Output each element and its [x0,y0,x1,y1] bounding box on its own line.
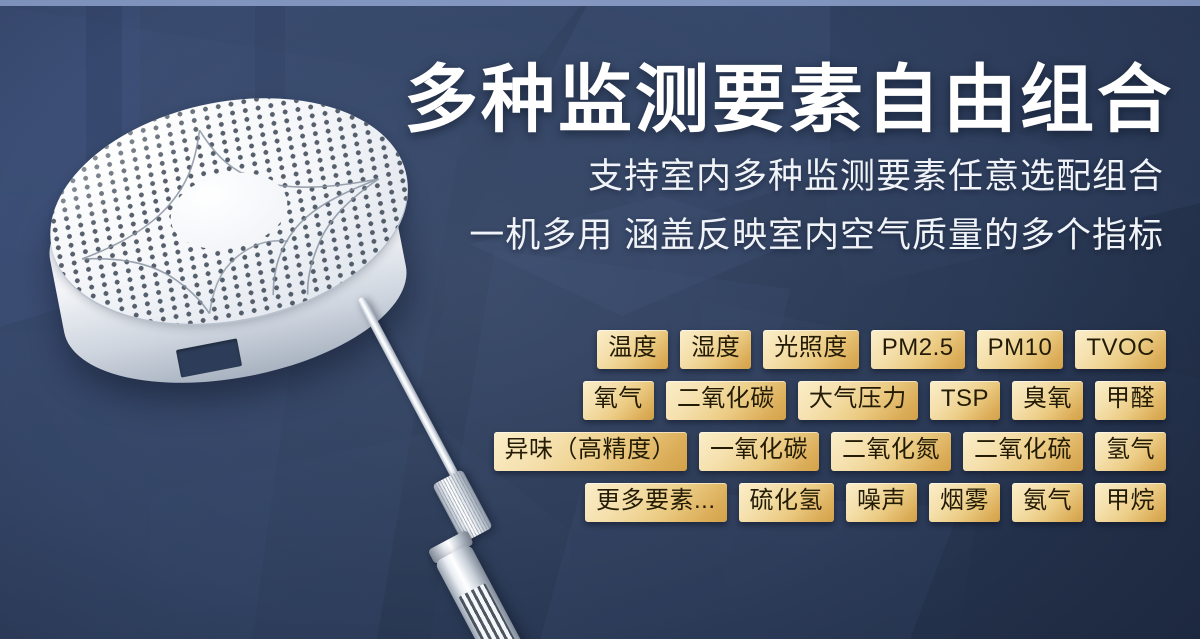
parameter-tag[interactable]: PM10 [977,330,1064,369]
tag-row: 温度 湿度 光照度 PM2.5 PM10 TVOC [466,330,1166,369]
parameter-tag[interactable]: 氧气 [583,381,654,420]
parameter-tag[interactable]: TSP [930,381,1000,420]
sensor-disc [28,82,428,372]
copy-block: 多种监测要素自由组合 支持室内多种监测要素任意选配组合 一机多用 涵盖反映室内空… [404,60,1164,259]
parameter-tag[interactable]: 硫化氢 [739,483,835,522]
tag-row: 氧气 二氧化碳 大气压力 TSP 臭氧 甲醛 [466,381,1166,420]
parameter-tag-list: 温度 湿度 光照度 PM2.5 PM10 TVOC 氧气 二氧化碳 大气压力 T… [466,330,1166,534]
tag-row: 更多要素... 硫化氢 噪声 烟雾 氨气 甲烷 [466,483,1166,522]
tag-row: 异味（高精度） 一氧化碳 二氧化氮 二氧化硫 氢气 [466,432,1166,471]
parameter-tag[interactable]: PM2.5 [871,330,965,369]
parameter-tag[interactable]: 臭氧 [1012,381,1083,420]
probe-sensor-tip [434,544,529,639]
page-title: 多种监测要素自由组合 [404,60,1164,140]
parameter-tag[interactable]: TVOC [1075,330,1166,369]
subtitle-line-1: 支持室内多种监测要素任意选配组合 [404,154,1164,200]
parameter-tag[interactable]: 噪声 [846,483,917,522]
parameter-tag-more[interactable]: 更多要素... [585,483,727,522]
parameter-tag[interactable]: 二氧化碳 [666,381,786,420]
parameter-tag[interactable]: 烟雾 [929,483,1000,522]
product-banner: 多种监测要素自由组合 支持室内多种监测要素任意选配组合 一机多用 涵盖反映室内空… [0,0,1200,639]
parameter-tag[interactable]: 二氧化氮 [831,432,951,471]
parameter-tag[interactable]: 光照度 [763,330,859,369]
parameter-tag[interactable]: 大气压力 [798,381,918,420]
subtitle-line-2: 一机多用 涵盖反映室内空气质量的多个指标 [404,213,1164,259]
parameter-tag[interactable]: 异味（高精度） [494,432,688,471]
parameter-tag[interactable]: 氢气 [1095,432,1166,471]
parameter-tag[interactable]: 二氧化硫 [963,432,1083,471]
parameter-tag[interactable]: 温度 [597,330,668,369]
top-accent-strip [0,0,1200,6]
parameter-tag[interactable]: 甲醛 [1095,381,1166,420]
parameter-tag[interactable]: 湿度 [680,330,751,369]
parameter-tag[interactable]: 一氧化碳 [699,432,819,471]
parameter-tag[interactable]: 氨气 [1012,483,1083,522]
parameter-tag[interactable]: 甲烷 [1095,483,1166,522]
